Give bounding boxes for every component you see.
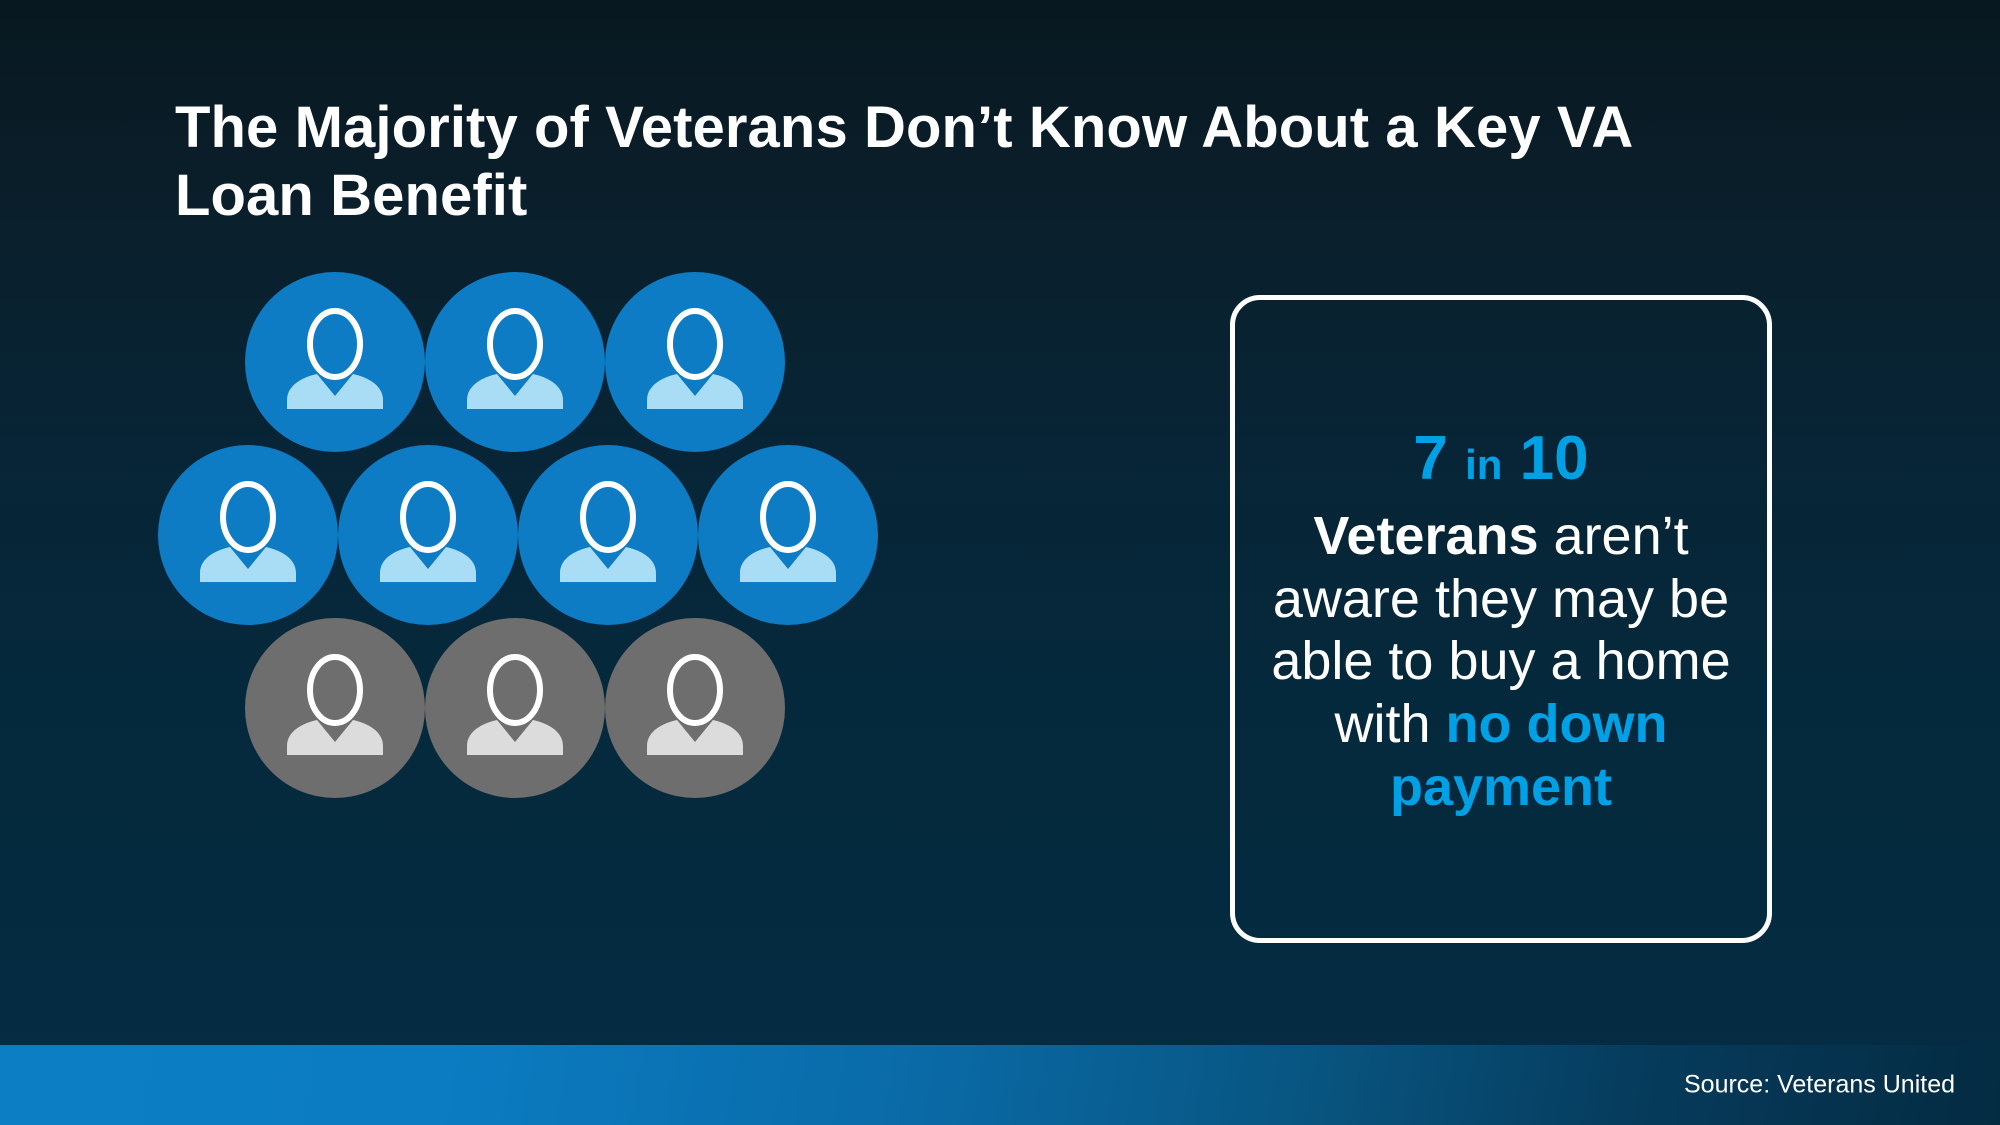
ratio-connector: in: [1465, 441, 1502, 488]
callout-text: 7 in 10 Veterans aren’t aware they may b…: [1235, 420, 1767, 819]
person-icon: [245, 618, 425, 798]
ratio-line: 7 in 10: [1249, 420, 1753, 498]
person-icon: [425, 272, 605, 452]
person-icon: [425, 618, 605, 798]
person-icon: [605, 272, 785, 452]
person-icon: [338, 445, 518, 625]
callout-box: 7 in 10 Veterans aren’t aware they may b…: [1230, 295, 1772, 943]
ratio-denominator: 10: [1520, 424, 1589, 493]
pictogram-icon-grid: [0, 0, 1100, 1040]
person-icon: [518, 445, 698, 625]
source-attribution: Source: Veterans United: [1684, 1071, 1955, 1100]
person-icon: [245, 272, 425, 452]
infographic-canvas: The Majority of Veterans Don’t Know Abou…: [0, 0, 2000, 1125]
callout-bold-word: Veterans: [1313, 506, 1538, 566]
person-icon: [605, 618, 785, 798]
footer-bar: Source: Veterans United: [0, 1045, 2000, 1125]
person-icon: [698, 445, 878, 625]
person-icon: [158, 445, 338, 625]
ratio-numerator: 7: [1413, 424, 1447, 493]
